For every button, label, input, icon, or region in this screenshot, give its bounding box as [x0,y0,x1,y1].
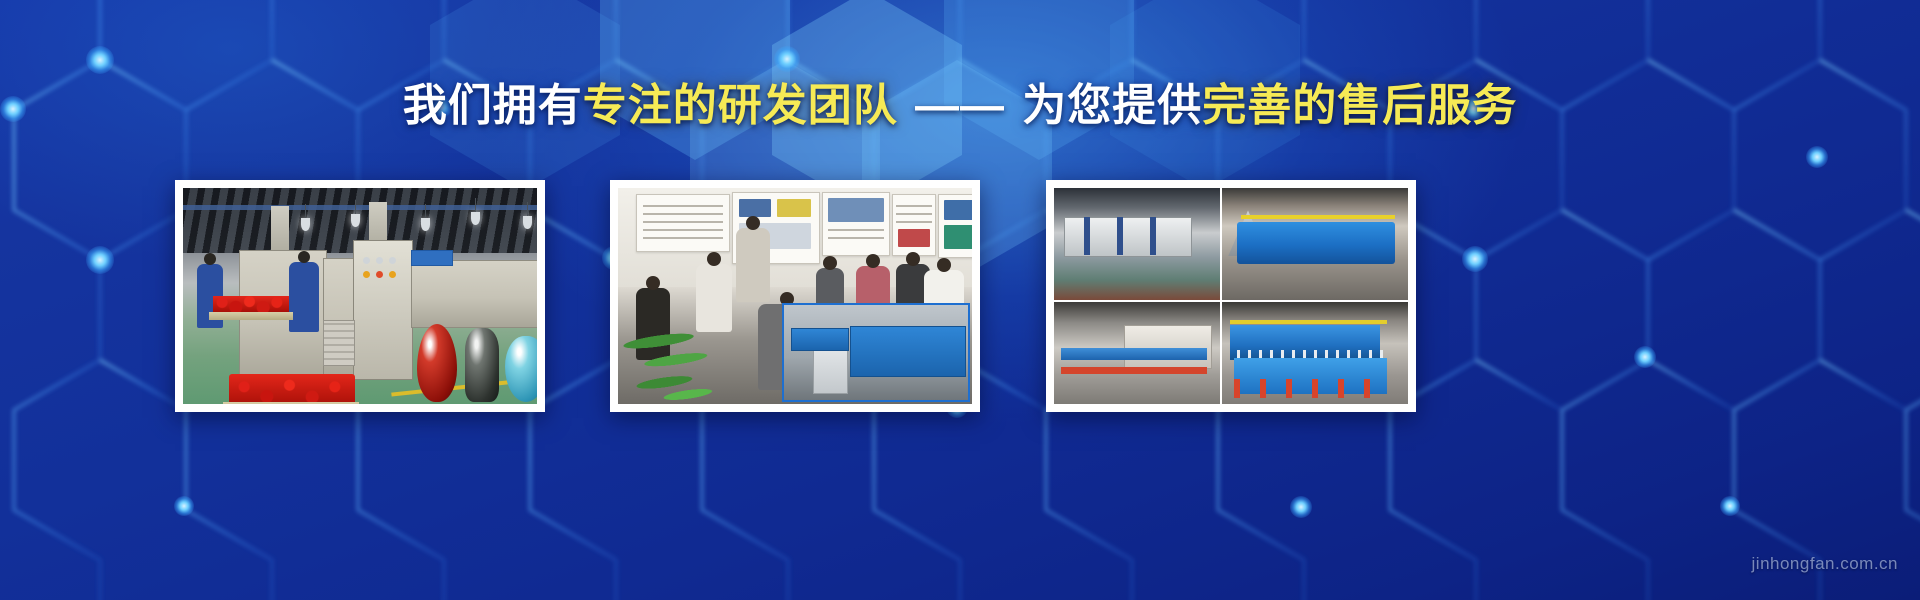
photo-image-factory-coating-line [183,188,537,404]
collage-cell-blue-oven [1222,188,1408,300]
photo-panel-production-lines-collage[interactable] [1046,180,1416,412]
promo-banner: 我们拥有专注的研发团队 —— 为您提供完善的售后服务 [0,0,1920,600]
headline-separator: —— [898,81,1022,130]
blue-tunnel-oven [1237,222,1395,265]
plastic-crate [323,320,355,366]
photo-panel-factory-coating-line[interactable] [175,180,545,412]
site-watermark: jinhongfan.com.cn [1752,554,1898,574]
photo-frame [183,188,537,404]
photo-frame [1054,188,1408,404]
control-cabinet [353,240,413,380]
person-standing [736,228,770,302]
ceiling-lamp-icon [471,212,480,225]
headline-segment-2: 专注的研发团队 [583,81,898,130]
support-post [1150,217,1156,255]
inset-machinery-photo [782,303,970,402]
ceiling-lamp-icon [523,216,532,229]
page-title: 我们拥有专注的研发团队 —— 为您提供完善的售后服务 [0,82,1920,130]
red-frame-legs [1234,379,1388,398]
technical-poster [938,194,972,258]
photo-image-team-meeting [618,188,972,404]
technical-poster [822,192,890,256]
headline-segment-1: 我们拥有 [403,81,583,130]
red-parts-on-conveyor [213,296,289,312]
blue-production-line [791,328,848,351]
red-parts-pile [229,374,355,404]
oven-housing [1124,325,1213,368]
glass-vase-red [417,324,457,402]
red-support-rail [1061,367,1207,374]
tunnel-furnace [411,260,537,328]
worker-figure [289,262,319,332]
ceiling-lamp-icon [301,218,310,231]
palm-plant [619,301,751,404]
headline-segment-3: 为您提供 [1022,81,1202,130]
technical-poster [892,194,936,256]
headline-segment-4: 完善的售后服务 [1202,81,1517,130]
collage-cell-plating-rack [1222,302,1408,404]
ceiling-lamp-icon [351,214,360,227]
chain-conveyor [1061,348,1207,360]
support-post [1117,217,1123,255]
photo-frame [618,188,972,404]
photo-image-production-lines-collage [1054,188,1408,404]
technical-poster [636,194,730,252]
photo-panel-team-meeting[interactable] [610,180,980,412]
roof-beam [183,205,537,210]
support-post [1084,217,1090,255]
tunnel-furnace [411,250,453,266]
glass-vase-dark [465,328,499,402]
conveyor-table [223,402,359,404]
collage-cell-conveyor [1054,302,1220,404]
yellow-gas-pipe [1241,215,1395,219]
yellow-gas-pipe [1230,320,1388,324]
glass-vase-blue [505,336,537,402]
collage-cell-drying-line [1054,188,1220,300]
conveyor-belt [209,312,293,320]
ceiling-lamp-icon [421,218,430,231]
exhaust-stack [271,206,289,254]
blue-production-line [850,326,966,377]
